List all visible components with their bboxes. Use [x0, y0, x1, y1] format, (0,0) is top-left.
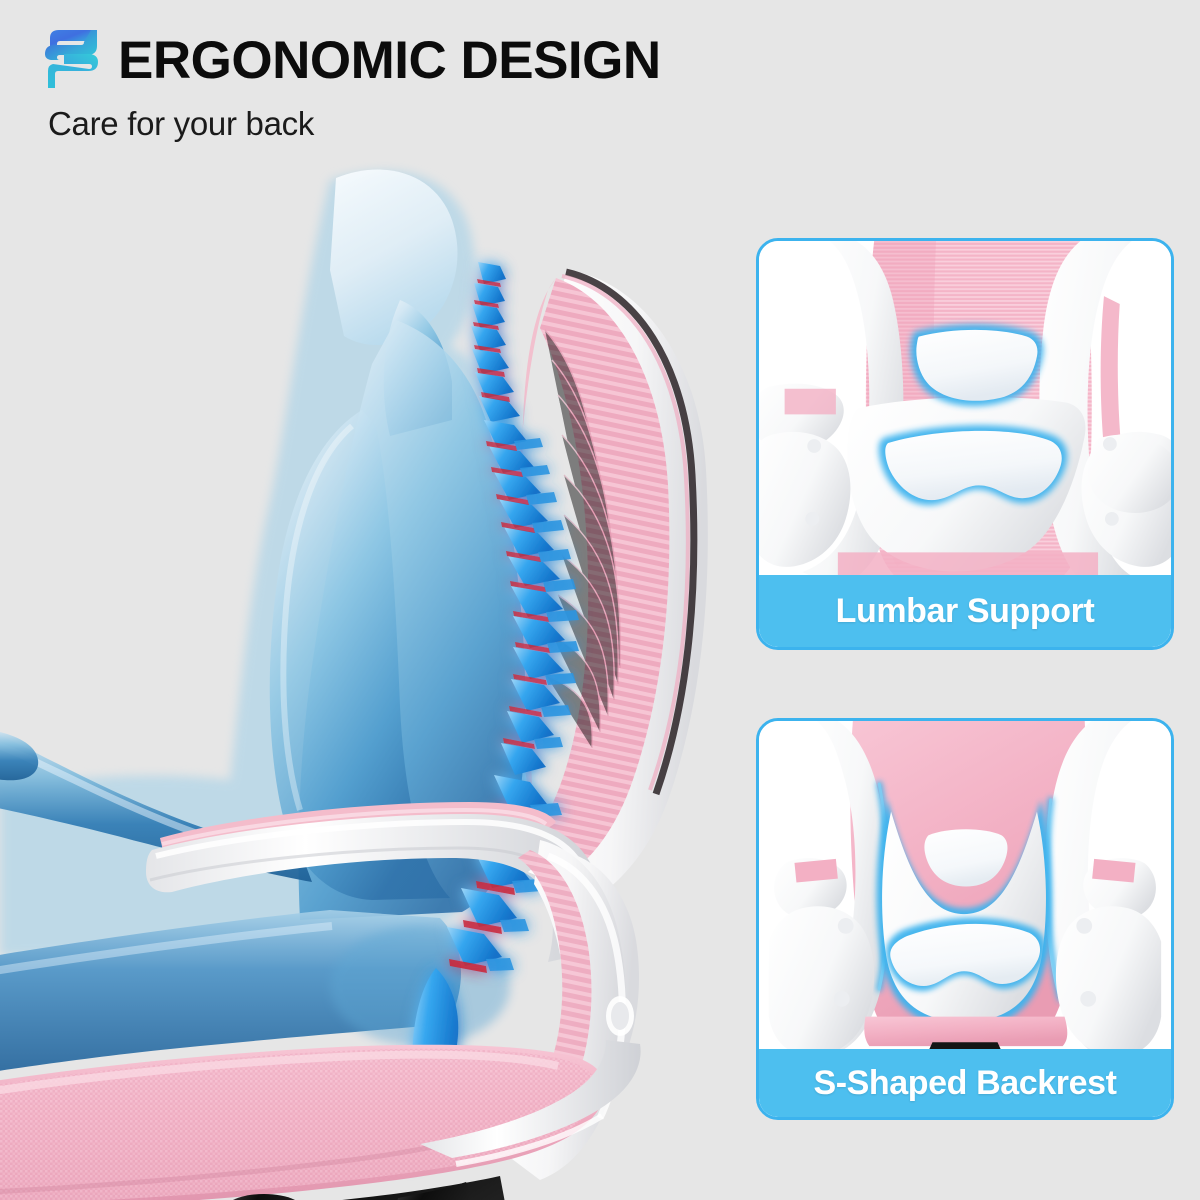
panel-label-backrest: S-Shaped Backrest [759, 1049, 1171, 1117]
page-subtitle: Care for your back [48, 103, 314, 145]
feature-panel-lumbar-support: Lumbar Support [756, 238, 1174, 650]
panel-label-lumbar: Lumbar Support [759, 575, 1171, 647]
page-title: ERGONOMIC DESIGN [118, 30, 661, 92]
feature-panel-s-shaped-backrest: S-Shaped Backrest [756, 718, 1174, 1120]
hero-image [0, 150, 748, 1200]
product-feature-graphic: ERGONOMIC DESIGN Care for your back [0, 0, 1200, 1200]
s-logo-icon [44, 28, 100, 90]
header: ERGONOMIC DESIGN Care for your back [0, 0, 1200, 165]
